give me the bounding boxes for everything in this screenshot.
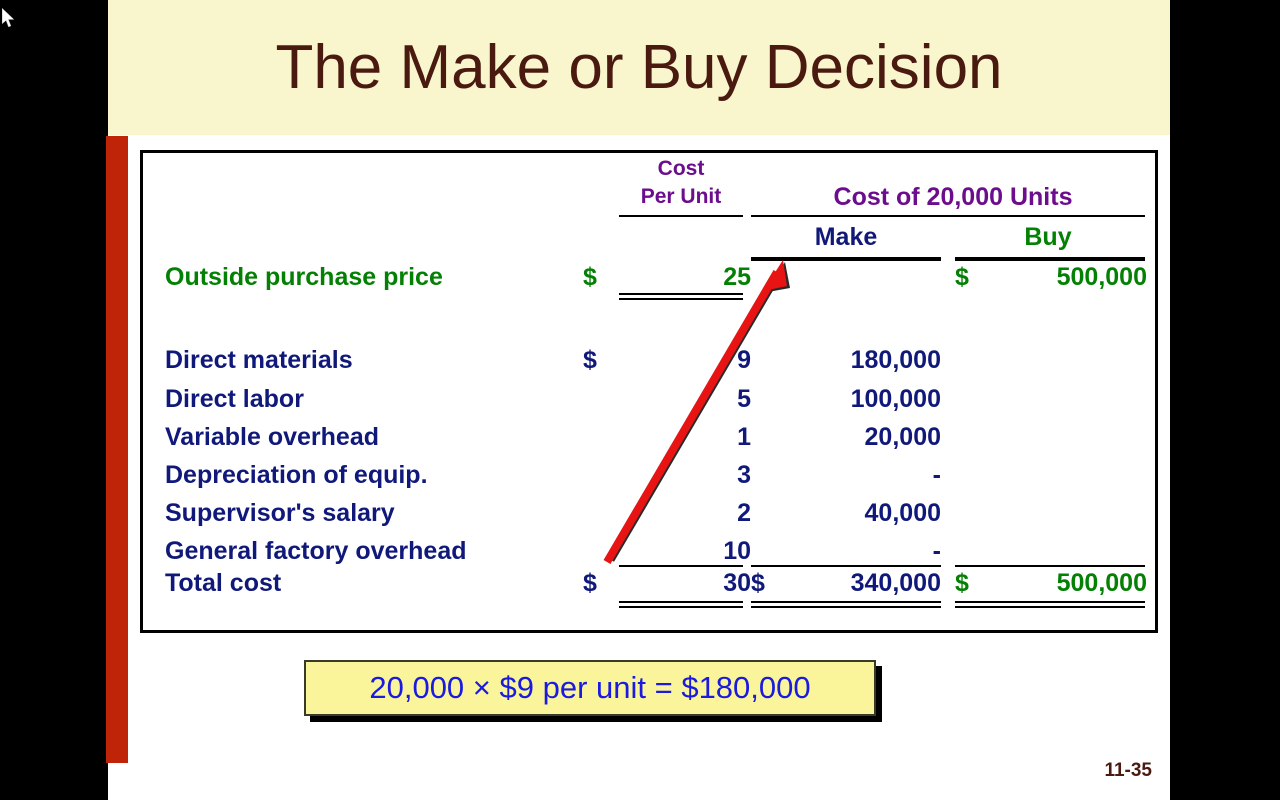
direct-labor-unit-value: 5 [595,385,751,414]
row-label-general-factory-overhead: General factory overhead [165,537,585,566]
cost-comparison-table: Cost Per Unit Cost of 20,000 Units Make … [140,150,1158,633]
rule-buy [955,257,1145,261]
rule-make [751,257,941,261]
row-label-direct-labor: Direct labor [165,385,585,414]
slide-title-band: The Make or Buy Decision [108,0,1170,135]
slide-canvas: The Make or Buy Decision Cost Per Unit C… [108,0,1170,800]
variable-overhead-unit-value: 1 [595,423,751,452]
direct-labor-make-value: 100,000 [743,385,941,414]
direct-materials-unit-value: 9 [595,346,751,375]
outside-purchase-unit-value: 25 [595,263,751,292]
row-label-supervisor-salary: Supervisor's salary [165,499,585,528]
rule-per-unit [619,215,743,217]
supervisor-salary-make-value: 40,000 [743,499,941,528]
row-label-direct-materials: Direct materials [165,346,585,375]
row-label-outside-purchase-price: Outside purchase price [165,263,585,292]
left-accent-bar [106,136,128,763]
direct-materials-make-value: 180,000 [743,346,941,375]
subtotal-rule-buy [955,565,1145,567]
depreciation-make-value: - [743,461,941,490]
page-title: The Make or Buy Decision [108,0,1170,135]
header-buy: Buy [953,223,1143,252]
row-label-total-cost: Total cost [165,569,585,598]
supervisor-salary-unit-value: 2 [595,499,751,528]
total-buy-value: 500,000 [949,569,1147,598]
row-label-depreciation: Depreciation of equip. [165,461,585,490]
general-factory-overhead-make-value: - [743,537,941,566]
depreciation-unit-value: 3 [595,461,751,490]
subtotal-rule-make [751,565,941,567]
total-make-value: 340,000 [743,569,941,598]
mouse-cursor-icon [2,8,16,30]
variable-overhead-make-value: 20,000 [743,423,941,452]
rule-cost-of-units [751,215,1145,217]
header-cost-of-units: Cost of 20,000 Units [753,183,1153,212]
header-make: Make [751,223,941,252]
outside-purchase-buy-value: 500,000 [949,263,1147,292]
subtotal-rule-unit [619,565,743,567]
general-factory-overhead-unit-value: 10 [595,537,751,566]
callout-box: 20,000 × $9 per unit = $180,000 [304,660,876,716]
row-label-variable-overhead: Variable overhead [165,423,585,452]
header-cost: Cost [611,157,751,181]
header-per-unit: Per Unit [611,185,751,209]
page-number: 11-35 [1104,760,1152,782]
callout-text: 20,000 × $9 per unit = $180,000 [369,670,810,706]
total-unit-value: 30 [595,569,751,598]
